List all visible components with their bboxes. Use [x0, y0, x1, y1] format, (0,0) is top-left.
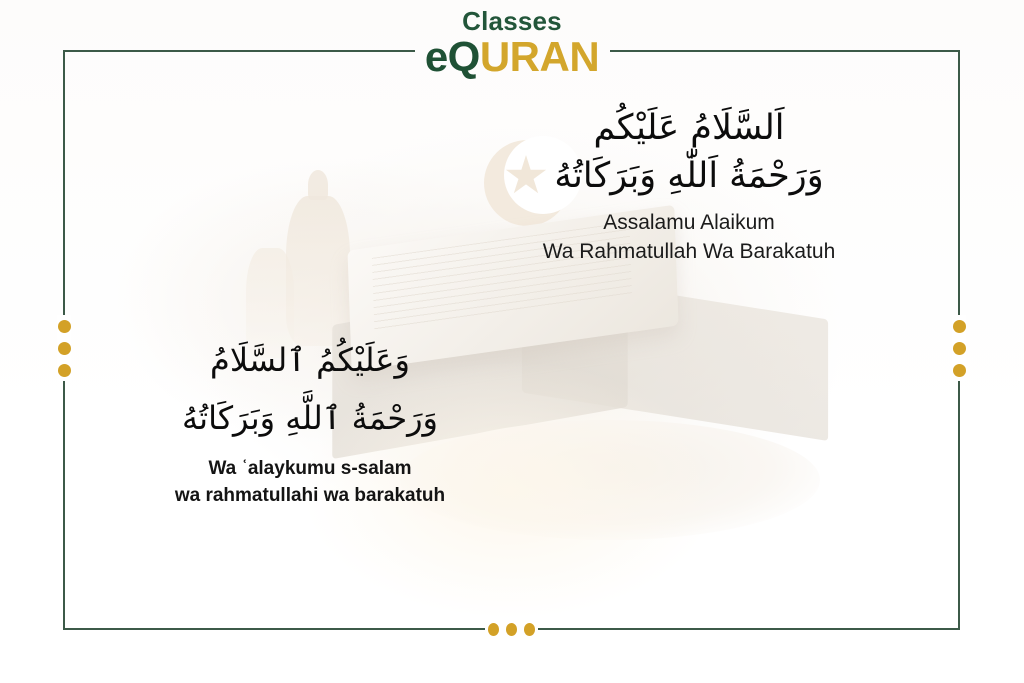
- logo-uran-part: URAN: [480, 33, 599, 80]
- greeting-transliteration-line-2: Wa Rahmatullah Wa Barakatuh: [474, 238, 904, 267]
- logo-equran-text: eQURAN: [0, 36, 1024, 78]
- gold-dot: [953, 320, 966, 333]
- left-dot-ornament: [57, 315, 71, 381]
- bottom-dot-ornament: [485, 621, 538, 637]
- reply-block: وَعَلَيْكُمُ ٱلسَّلَامُ وَرَحْمَةُ ٱللَّ…: [110, 336, 510, 510]
- reply-arabic-line-1: وَعَلَيْكُمُ ٱلسَّلَامُ: [110, 336, 510, 384]
- greeting-arabic-line-2: وَرَحْمَةُ اَللّٰهِ وَبَرَكَاتُهُ: [474, 152, 904, 202]
- reply-transliteration-line-2: wa rahmatullahi wa barakatuh: [110, 483, 510, 510]
- reply-arabic-line-2: وَرَحْمَةُ ٱللَّهِ وَبَرَكَاتُهُ: [110, 394, 510, 442]
- greeting-arabic-line-1: اَلسَّلَامُ عَلَيْكُم: [474, 104, 904, 154]
- frame-bottom-left-line: [63, 628, 485, 630]
- gold-dot: [488, 623, 499, 636]
- greeting-card: Classes eQURAN اَلسَّلَامُ عَلَيْكُم وَر…: [0, 0, 1024, 683]
- gold-dot: [953, 342, 966, 355]
- logo-classes-text: Classes: [0, 8, 1024, 34]
- reply-transliteration-line-1: Wa ʿalaykumu s-salam: [110, 456, 510, 483]
- frame-bottom-right-line: [538, 628, 960, 630]
- gold-dot: [58, 342, 71, 355]
- lantern-icon: [286, 196, 350, 346]
- gold-dot: [58, 364, 71, 377]
- greeting-block: اَلسَّلَامُ عَلَيْكُم وَرَحْمَةُ اَللّٰه…: [474, 104, 904, 267]
- gold-dot: [58, 320, 71, 333]
- gold-dot: [524, 623, 535, 636]
- gold-dot: [953, 364, 966, 377]
- gold-dot: [506, 623, 517, 636]
- frame-left-line: [63, 50, 65, 630]
- right-dot-ornament: [952, 315, 966, 381]
- frame-right-line: [958, 50, 960, 630]
- logo-eq-part: eQ: [425, 33, 480, 80]
- rehal-stand-right: [522, 271, 828, 441]
- greeting-transliteration-line-1: Assalamu Alaikum: [474, 209, 904, 238]
- brand-logo: Classes eQURAN: [0, 8, 1024, 78]
